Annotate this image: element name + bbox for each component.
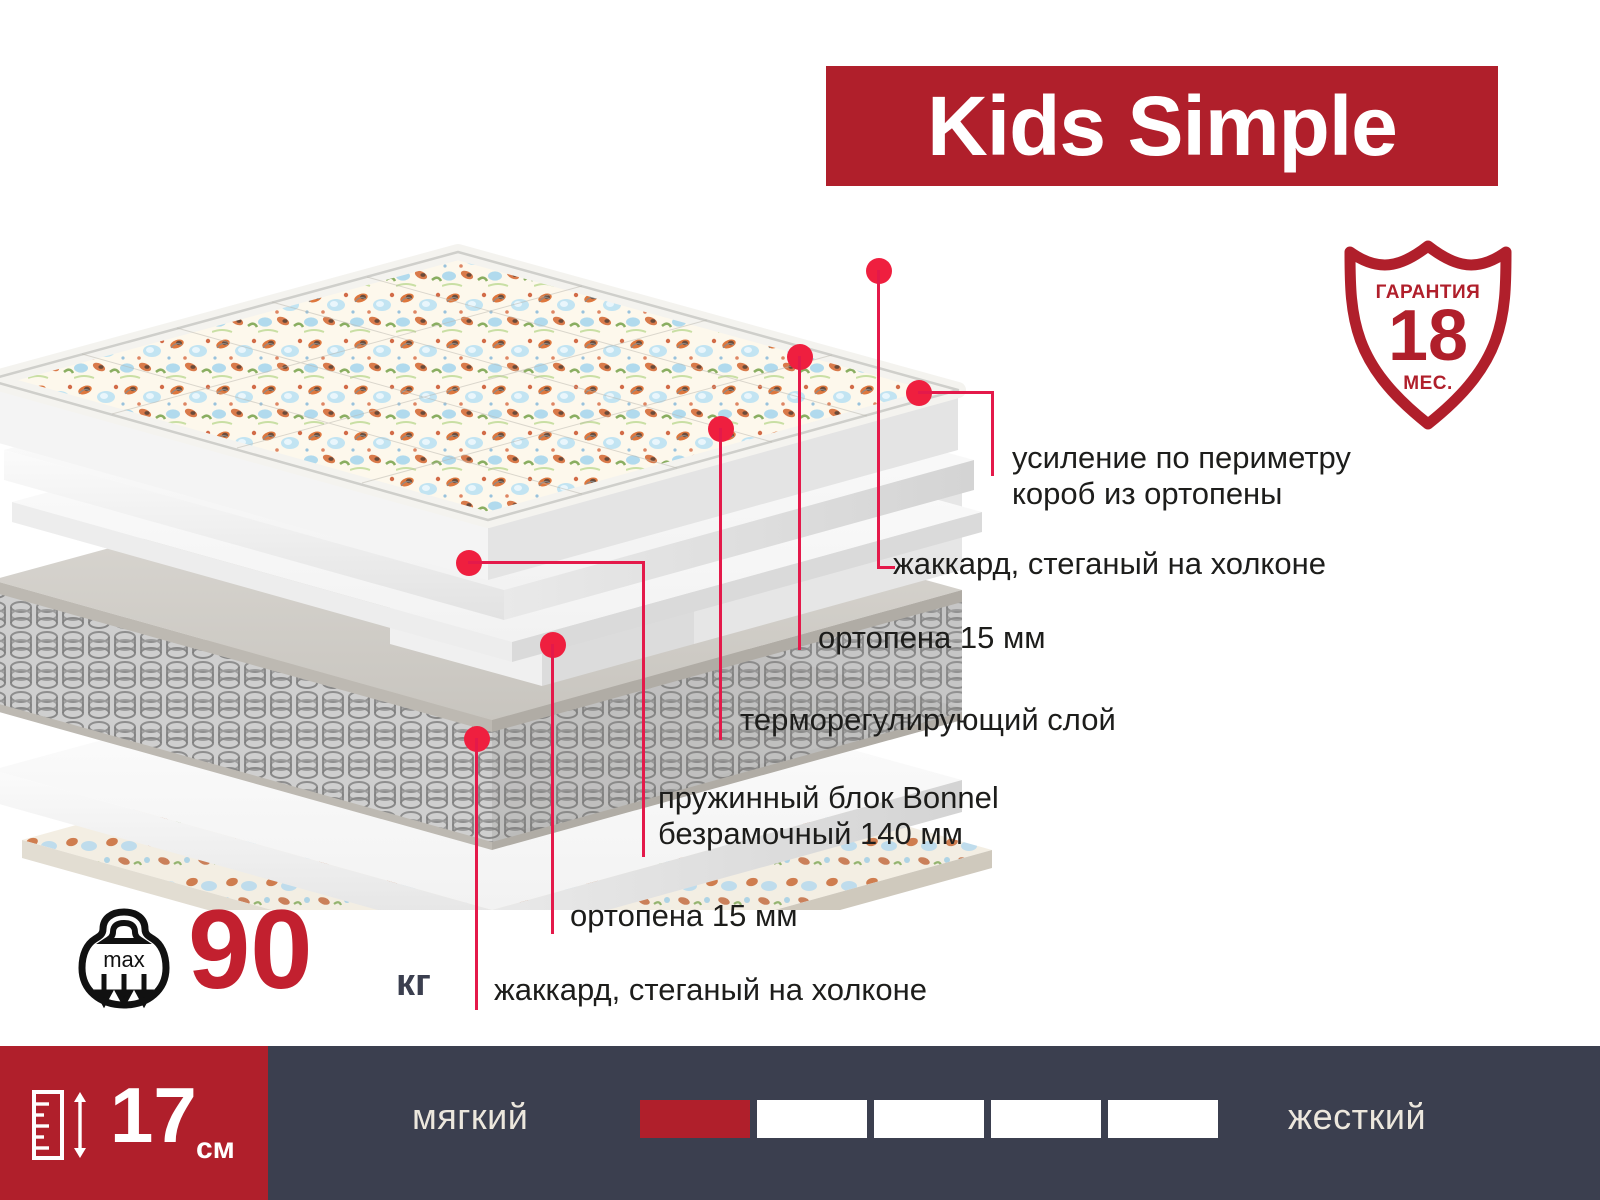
callout-label-bonnel-spring-block: пружинный блок Bonnel безрамочный 140 мм bbox=[658, 780, 999, 852]
callout-leader-springs-v bbox=[642, 561, 645, 857]
firmness-segment-4 bbox=[991, 1100, 1101, 1138]
max-weight-block: max 90 кг bbox=[78, 900, 418, 1020]
callout-leader-perimeter-v bbox=[991, 391, 994, 476]
callout-label-ortopena-top: ортопена 15 мм bbox=[818, 620, 1046, 656]
firmness-soft-label: мягкий bbox=[412, 1096, 528, 1138]
height-value: 17 bbox=[110, 1076, 197, 1154]
callout-label-thermoregulating-layer: терморегулирующий слой bbox=[740, 702, 1116, 738]
callout-leader-thermo bbox=[719, 428, 722, 740]
callout-label-perimeter-reinforcement: усиление по периметру короб из ортопены bbox=[1012, 440, 1351, 512]
callout-label-ortopena-bottom: ортопена 15 мм bbox=[570, 898, 798, 934]
callout-label-jacquard-bottom: жаккард, стеганый на холконе bbox=[494, 972, 927, 1008]
firmness-segment-5 bbox=[1108, 1100, 1218, 1138]
infographic-root: Kids Simple ГАРАНТИЯ 18 МЕС. bbox=[0, 0, 1600, 1200]
max-weight-icon-label: max bbox=[103, 947, 145, 972]
callout-leader-jacquard-top bbox=[877, 270, 880, 568]
firmness-segment-2 bbox=[757, 1100, 867, 1138]
firmness-segment-3 bbox=[874, 1100, 984, 1138]
callout-leader-jacquard-bottom bbox=[475, 738, 478, 1010]
callout-leader-perimeter-h bbox=[918, 391, 994, 394]
firmness-segment-1 bbox=[640, 1100, 750, 1138]
callout-leader-springs-h bbox=[468, 561, 645, 564]
kettlebell-icon: max bbox=[78, 906, 170, 1010]
firmness-firm-label: жесткий bbox=[1288, 1096, 1426, 1138]
max-weight-unit: кг bbox=[396, 962, 431, 1005]
height-unit: см bbox=[196, 1132, 235, 1166]
callout-leader-ortopena-bottom bbox=[551, 644, 554, 934]
max-weight-value: 90 bbox=[188, 894, 313, 1006]
callout-label-jacquard-top: жаккард, стеганый на холконе bbox=[893, 546, 1326, 582]
warranty-badge: ГАРАНТИЯ 18 МЕС. bbox=[1338, 238, 1518, 430]
callout-leader-ortopena-top bbox=[798, 356, 801, 650]
warranty-bottom-label: МЕС. bbox=[1338, 373, 1518, 395]
warranty-number: 18 bbox=[1338, 300, 1518, 372]
page-title: Kids Simple bbox=[927, 84, 1397, 168]
ruler-icon bbox=[30, 1088, 104, 1162]
